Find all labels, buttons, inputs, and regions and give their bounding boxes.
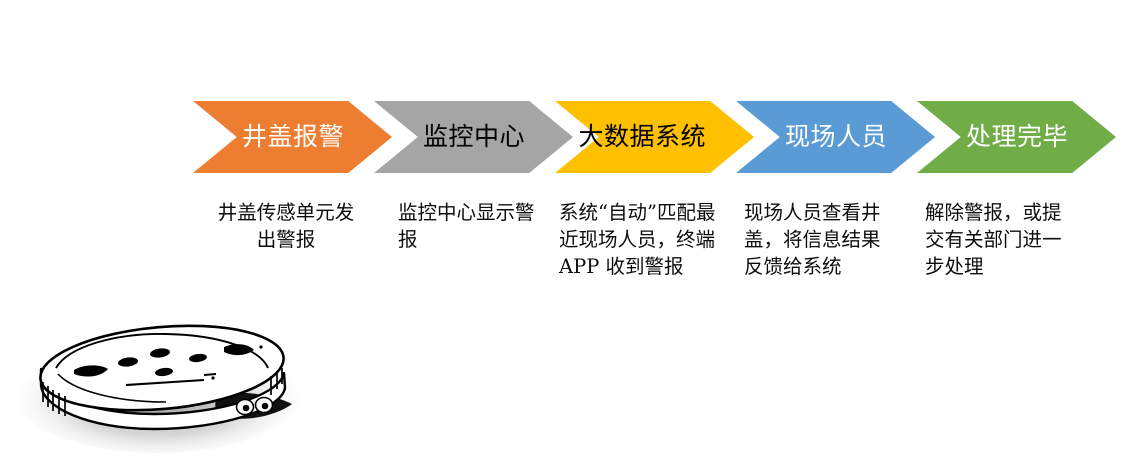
manhole-cover-illustration xyxy=(8,316,304,459)
process-step-5-label: 处理完毕 xyxy=(927,101,1068,173)
process-captions: 井盖传感单元发出警报 监控中心显示警报 系统“自动”匹配最近现场人员，终端 AP… xyxy=(193,200,1128,340)
process-step-1-caption: 井盖传感单元发出警报 xyxy=(216,200,356,254)
process-step-1[interactable]: 井盖报警 xyxy=(193,101,392,173)
process-step-5[interactable]: 处理完毕 xyxy=(917,101,1116,173)
process-step-4[interactable]: 现场人员 xyxy=(736,101,935,173)
process-step-3-caption: 系统“自动”匹配最近现场人员，终端 APP 收到警报 xyxy=(559,200,719,281)
process-step-3[interactable]: 大数据系统 xyxy=(555,101,754,173)
process-step-4-caption: 现场人员查看井盖，将信息结果反馈给系统 xyxy=(744,200,884,281)
process-step-4-label: 现场人员 xyxy=(746,101,887,173)
process-step-1-label: 井盖报警 xyxy=(203,101,344,173)
process-step-3-label: 大数据系统 xyxy=(565,101,706,173)
process-step-5-caption: 解除警报，或提交有关部门进一步处理 xyxy=(925,200,1065,281)
process-step-2-label: 监控中心 xyxy=(384,101,525,173)
process-flow-diagram: 井盖报警 监控中心 大数据系统 现场人员 处理完毕 xyxy=(193,101,1118,173)
process-step-2-caption: 监控中心显示警报 xyxy=(398,200,538,254)
process-step-2[interactable]: 监控中心 xyxy=(374,101,573,173)
